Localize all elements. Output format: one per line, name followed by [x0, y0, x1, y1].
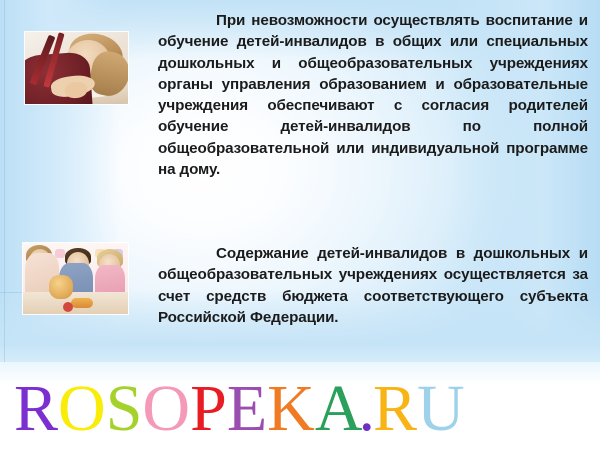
paragraph-1: При невозможности осуществлять воспитани…: [158, 10, 588, 180]
logo-letter-3: S: [106, 378, 143, 440]
background-vertical-rule: [4, 0, 5, 368]
logo-letter-2: O: [58, 378, 106, 440]
photo-child-writing: [25, 32, 128, 104]
logo-letter-11: U: [417, 378, 465, 440]
logo-letter-6: E: [227, 378, 267, 440]
logo-letter-8: A: [315, 378, 363, 440]
logo-letter-4: O: [142, 378, 190, 440]
logo-letter-1: R: [14, 378, 58, 440]
photo-children-in-classroom-art: [23, 243, 128, 314]
logo-letter-7: K: [267, 378, 315, 440]
paragraph-2: Содержание детей-инвалидов в дошкольных …: [158, 243, 588, 328]
photo-children-in-classroom: [23, 243, 128, 314]
photo-child-writing-art: [25, 32, 128, 104]
rosopeka-logo: ROSOPEKA.RU: [14, 378, 589, 440]
presentation-slide: При невозможности осуществлять воспитани…: [0, 0, 600, 450]
logo-letter-5: P: [190, 378, 227, 440]
logo-letter-10: R: [373, 378, 417, 440]
